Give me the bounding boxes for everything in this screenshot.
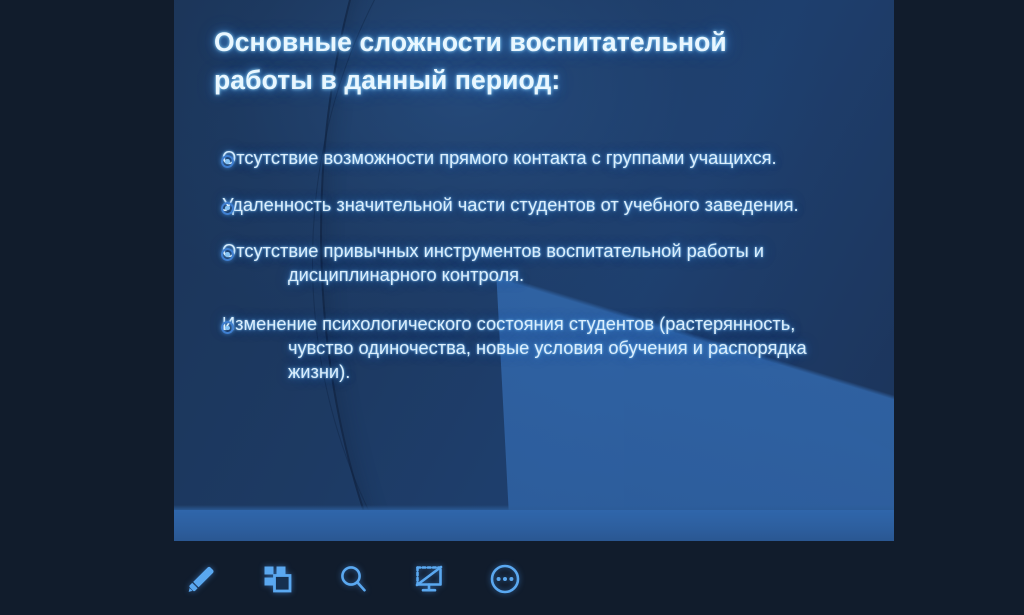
bullet-marker-icon — [221, 155, 234, 168]
bullet-list: Отсутствие возможности прямого контакта … — [214, 146, 854, 406]
list-item: Отсутствие возможности прямого контакта … — [214, 146, 854, 170]
bullet-text: Изменение психологического состояния сту… — [288, 312, 854, 383]
bullet-marker-icon — [221, 202, 234, 215]
slide-content: Основные сложности воспитательной работы… — [174, 0, 894, 541]
bullet-text: Отсутствие привычных инструментов воспит… — [288, 239, 854, 286]
zoom-icon — [335, 561, 371, 597]
all-slides-button[interactable] — [250, 552, 304, 606]
all-slides-icon — [259, 561, 295, 597]
slideshow-stage: Основные сложности воспитательной работы… — [0, 0, 1024, 615]
bullet-text: Отсутствие возможности прямого контакта … — [288, 146, 854, 170]
bullet-text: Удаленность значительной части студентов… — [288, 193, 854, 217]
pen-icon — [183, 561, 219, 597]
more-options-button[interactable] — [478, 552, 532, 606]
list-item: Отсутствие привычных инструментов воспит… — [214, 239, 854, 286]
blank-screen-icon — [411, 561, 447, 597]
list-item: Удаленность значительной части студентов… — [214, 193, 854, 217]
presentation-slide[interactable]: Основные сложности воспитательной работы… — [174, 0, 894, 541]
more-options-icon — [487, 561, 523, 597]
zoom-button[interactable] — [326, 552, 380, 606]
pen-button[interactable] — [174, 552, 228, 606]
slide-title: Основные сложности воспитательной работы… — [214, 24, 794, 99]
slideshow-toolbar — [174, 548, 564, 610]
list-item: Изменение психологического состояния сту… — [214, 312, 854, 383]
blank-screen-button[interactable] — [402, 552, 456, 606]
